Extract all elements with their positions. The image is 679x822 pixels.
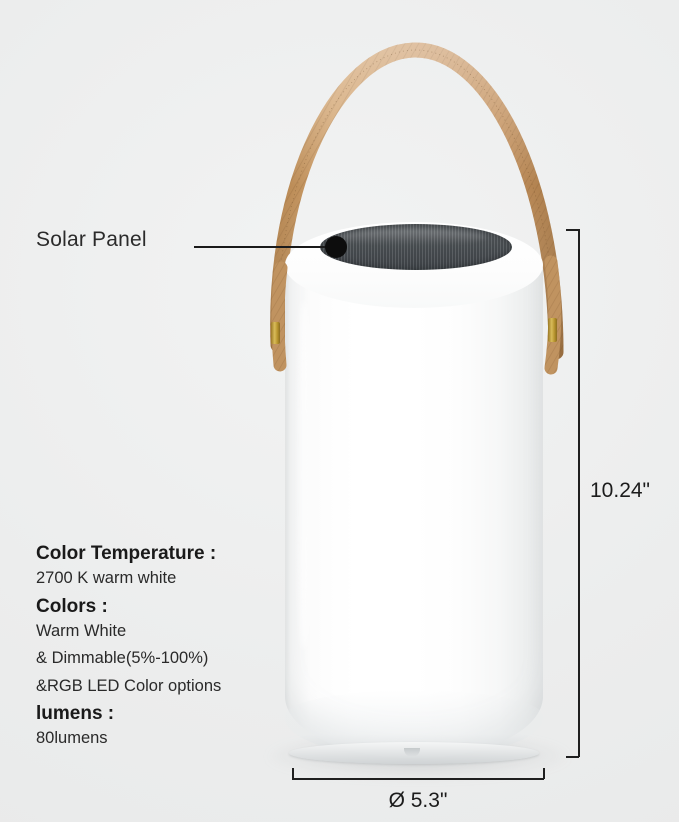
callout-label-solar-panel: Solar Panel — [36, 228, 147, 252]
diameter-dimension-tick-left — [292, 768, 294, 779]
spec-value-color-temperature: 2700 K warm white — [36, 570, 276, 587]
solar-panel-sheen — [336, 229, 486, 245]
spec-heading-colors: Colors : — [36, 597, 276, 616]
diameter-dimension-label: Ø 5.3" — [292, 789, 544, 813]
callout-dot-marker — [325, 236, 347, 258]
spec-value-colors-1: Warm White — [36, 623, 276, 640]
height-dimension-line — [578, 229, 580, 757]
diameter-dimension-tick-right — [543, 768, 545, 779]
height-dimension-tick-bottom — [566, 756, 579, 758]
callout-leader-line — [194, 246, 339, 248]
spec-value-lumens: 80lumens — [36, 730, 276, 747]
spec-heading-color-temperature: Color Temperature : — [36, 544, 276, 563]
spec-value-colors-2: & Dimmable(5%-100%) — [36, 650, 276, 667]
product-photo-scene: Solar Panel 10.24" Ø 5.3" Color Temperat… — [0, 0, 679, 822]
spec-heading-lumens: lumens : — [36, 704, 276, 723]
height-dimension-label: 10.24" — [590, 479, 650, 503]
diameter-dimension-line — [292, 778, 544, 780]
spec-value-colors-3: &RGB LED Color options — [36, 678, 276, 695]
height-dimension-tick-top — [566, 229, 579, 231]
specification-list: Color Temperature : 2700 K warm white Co… — [36, 544, 276, 758]
body-highlight — [296, 300, 312, 650]
